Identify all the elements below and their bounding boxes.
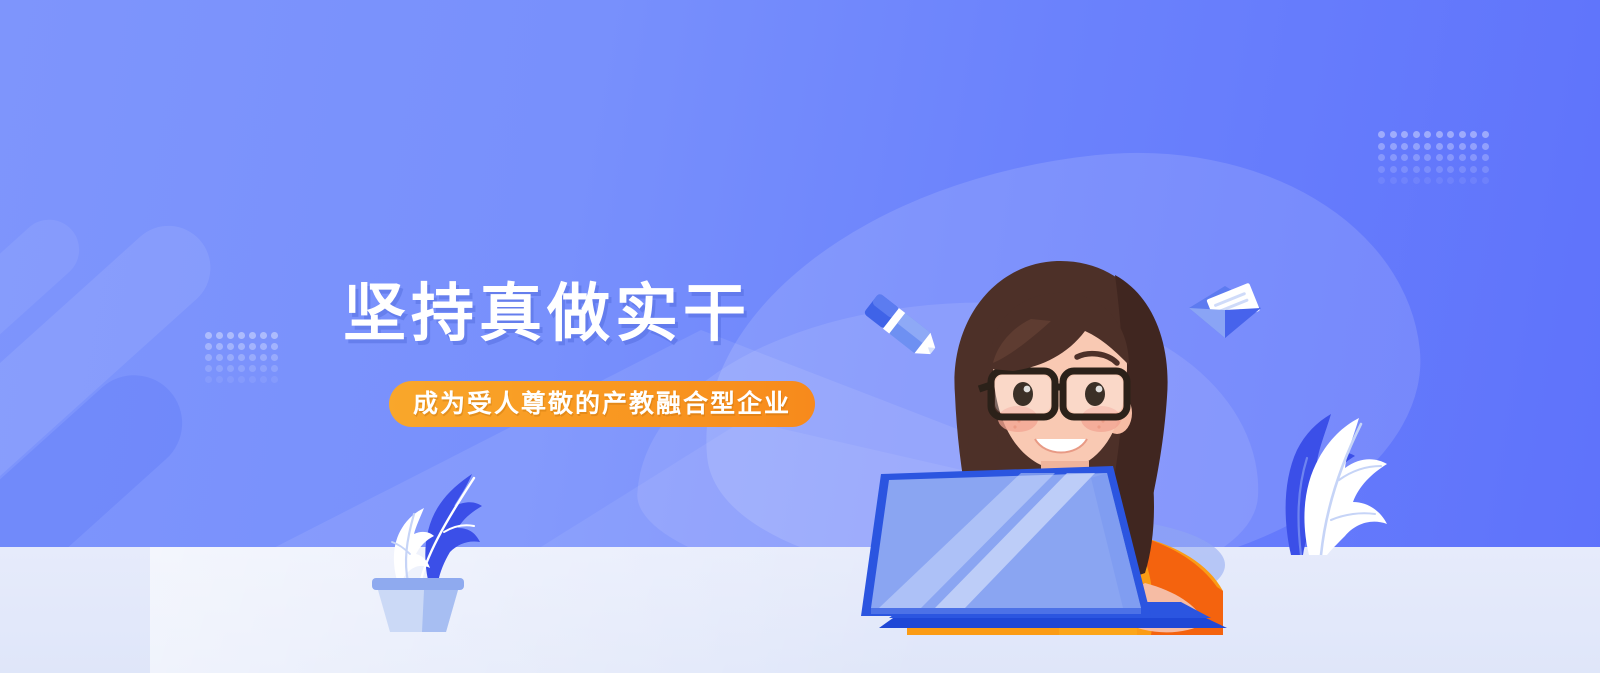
floor-sheen: [150, 547, 930, 673]
potted-plant-icon: [348, 452, 488, 632]
laptop-illustration: [855, 440, 1245, 635]
page-title: 坚持真做实干: [343, 283, 751, 346]
subtitle-pill: 成为受人尊敬的产教融合型企业: [389, 381, 815, 427]
hero-banner: 坚持真做实干 成为受人尊敬的产教融合型企业: [0, 0, 1600, 673]
